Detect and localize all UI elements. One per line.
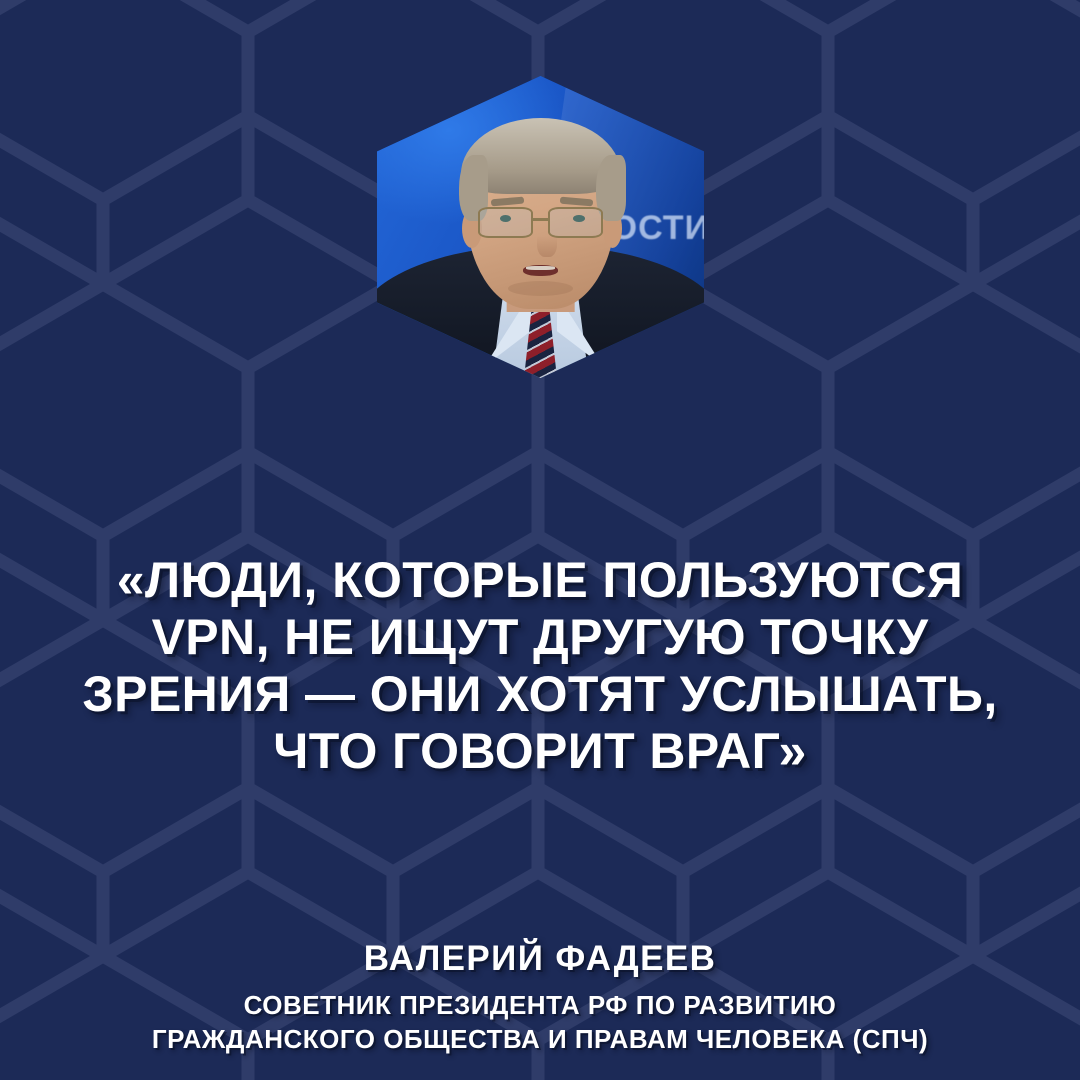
attribution-spacer [0,980,1080,988]
quote-text-block: «ЛЮДИ, КОТОРЫЕ ПОЛЬЗУЮТСЯ VPN, НЕ ИЩУТ Д… [0,552,1080,780]
eyeglass-lens-left [478,207,533,237]
nose [537,227,557,257]
backdrop-watermark-text: ОСТИ [611,209,704,248]
eyeglass-bridge [533,218,548,221]
speaker-name: ВАЛЕРИЙ ФАДЕЕВ [0,938,1080,980]
teeth [526,266,555,271]
quote-line: «ЛЮДИ, КОТОРЫЕ ПОЛЬЗУЮТСЯ [0,552,1080,609]
quote-line: ЧТО ГОВОРИТ ВРАГ» [0,723,1080,780]
portrait-hexagon: ОСТИ [377,76,704,378]
attribution-block: ВАЛЕРИЙ ФАДЕЕВ СОВЕТНИК ПРЕЗИДЕНТА РФ ПО… [0,938,1080,1056]
quote-card: ОСТИ [0,0,1080,1080]
portrait-clip-mask: ОСТИ [377,76,704,378]
quote-line: VPN, НЕ ИЩУТ ДРУГУЮ ТОЧКУ [0,609,1080,666]
quote-line: ЗРЕНИЯ — ОНИ ХОТЯТ УСЛЫШАТЬ, [0,666,1080,723]
speaker-role-line: СОВЕТНИК ПРЕЗИДЕНТА РФ ПО РАЗВИТИЮ [0,988,1080,1022]
speaker-role-line: ГРАЖДАНСКОГО ОБЩЕСТВА И ПРАВАМ ЧЕЛОВЕКА … [0,1022,1080,1056]
portrait-photo: ОСТИ [377,76,704,378]
